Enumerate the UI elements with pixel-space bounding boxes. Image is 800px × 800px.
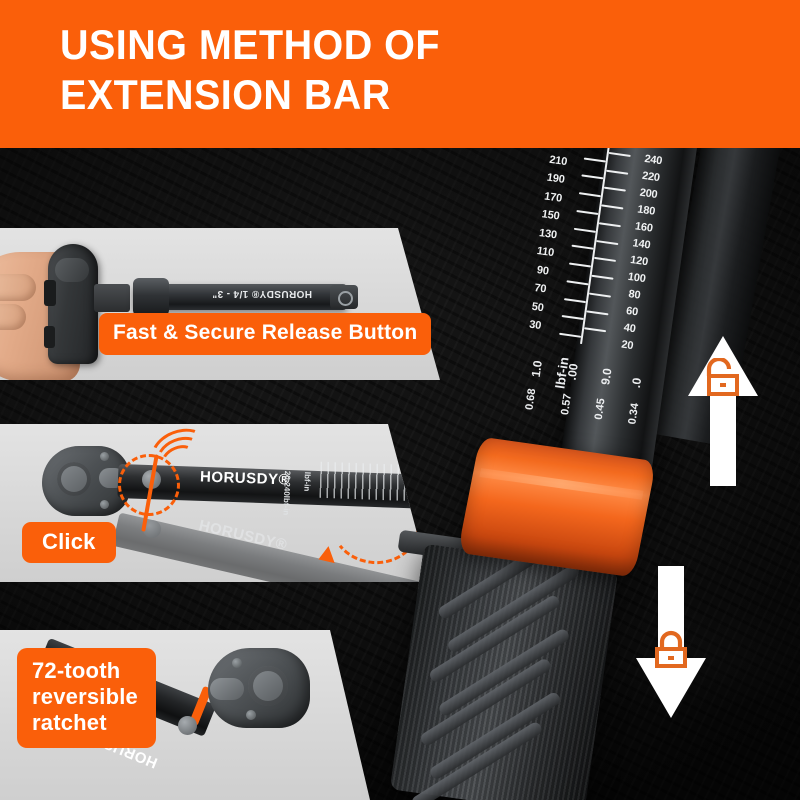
scale-tick xyxy=(562,315,584,320)
scale-value-right: 240 xyxy=(640,152,667,168)
scale-value-left: 190 xyxy=(542,171,569,187)
scale-tick xyxy=(584,157,606,162)
page-title: USING METHOD OF EXTENSION BAR xyxy=(60,20,718,119)
release-button-secondary-icon xyxy=(44,326,55,348)
wrench-range-marking: 20-240lbf-in xyxy=(281,471,292,516)
micro-major-3: .0 xyxy=(629,377,644,389)
panel-1-illustration: HORUSDY® 1/4 - 3" xyxy=(0,228,440,380)
scale-value-right: 100 xyxy=(623,270,650,286)
drive-anvil xyxy=(57,462,91,496)
chip-fast-secure-release-button: Fast & Secure Release Button xyxy=(99,313,431,355)
screw-icon xyxy=(100,500,109,509)
scale-value-left: 150 xyxy=(537,208,564,224)
finger xyxy=(0,274,36,301)
drive-square xyxy=(94,284,130,312)
unlock-direction-arrow xyxy=(688,336,758,486)
scale-value-right: 160 xyxy=(630,220,657,236)
micro-major-0: 1.0 xyxy=(529,360,545,378)
scale-value-right: 80 xyxy=(621,287,648,303)
screw-icon xyxy=(246,710,256,720)
torque-scale: 23021019017015013011090705030 2402202001… xyxy=(514,131,692,360)
finger xyxy=(0,304,26,330)
scale-value-right: 40 xyxy=(616,321,643,337)
scale-value-right: 120 xyxy=(625,253,652,269)
scale-tick xyxy=(594,257,616,262)
scale-tick xyxy=(574,228,596,233)
wrench-unit-marking: lbf-in xyxy=(302,472,312,492)
scale-tick xyxy=(599,222,621,227)
scale-tick xyxy=(571,245,593,250)
lock-icon xyxy=(651,630,691,672)
lock-direction-arrow xyxy=(636,566,706,718)
scale-value-left: 110 xyxy=(532,245,559,261)
screw-icon xyxy=(232,658,242,668)
screw-icon xyxy=(100,452,109,461)
scale-value-right: 140 xyxy=(628,237,655,253)
scale-tick xyxy=(587,310,609,315)
release-button-icon xyxy=(178,716,197,735)
scale-tick xyxy=(606,169,628,174)
scale-tick xyxy=(601,204,623,209)
chip-72-tooth-reversible-ratchet: 72-tooth reversible ratchet xyxy=(17,648,156,748)
wrench-handle-grip[interactable] xyxy=(390,544,619,800)
extension-bar-collar xyxy=(133,278,169,316)
scale-column-right: 24022020018016014012010080604020 xyxy=(601,143,676,357)
scale-value-left: 130 xyxy=(534,226,561,242)
scale-value-left: 50 xyxy=(524,300,551,316)
adjustment-collar[interactable] xyxy=(458,437,657,578)
reverse-lever[interactable] xyxy=(210,678,244,700)
panel-release-button: HORUSDY® 1/4 - 3" xyxy=(0,228,440,380)
scale-tick xyxy=(589,292,611,297)
scale-value-right: 200 xyxy=(635,186,662,202)
scale-tick xyxy=(581,175,603,180)
drive-anvil xyxy=(248,666,288,706)
extension-bar-tip xyxy=(330,285,358,309)
scale-value-left: 70 xyxy=(527,281,554,297)
header-banner: USING METHOD OF EXTENSION BAR xyxy=(0,0,800,148)
scale-tick xyxy=(566,280,588,285)
scale-tick xyxy=(564,298,586,303)
wrench-brand-label: HORUSDY® xyxy=(200,468,291,488)
scale-tick xyxy=(609,152,631,157)
scale-tick xyxy=(596,240,618,245)
scale-value-left: 210 xyxy=(545,153,572,169)
scale-value-left: 90 xyxy=(529,263,556,279)
micro-major-2: 9.0 xyxy=(598,367,614,385)
scale-tick xyxy=(604,187,626,192)
scale-tick xyxy=(579,192,601,197)
micro-unit: lbf-in xyxy=(552,356,571,390)
scale-tick xyxy=(569,263,591,268)
scale-tick xyxy=(576,210,598,215)
scale-value-right: 220 xyxy=(637,169,664,185)
scale-value-right: 180 xyxy=(632,203,659,219)
scale-tick xyxy=(584,327,606,332)
scale-value-left: 170 xyxy=(539,189,566,205)
unlock-icon xyxy=(703,358,743,400)
product-infographic: HORUSDY® 20-240lbf-in lbf-in 23021019017… xyxy=(0,0,800,800)
scale-tick xyxy=(591,275,613,280)
chip-click: Click xyxy=(22,522,116,563)
release-button-icon xyxy=(44,280,56,306)
extension-bar-marking: HORUSDY® 1/4 - 3" xyxy=(192,288,332,299)
scale-value-right: 60 xyxy=(618,304,645,320)
